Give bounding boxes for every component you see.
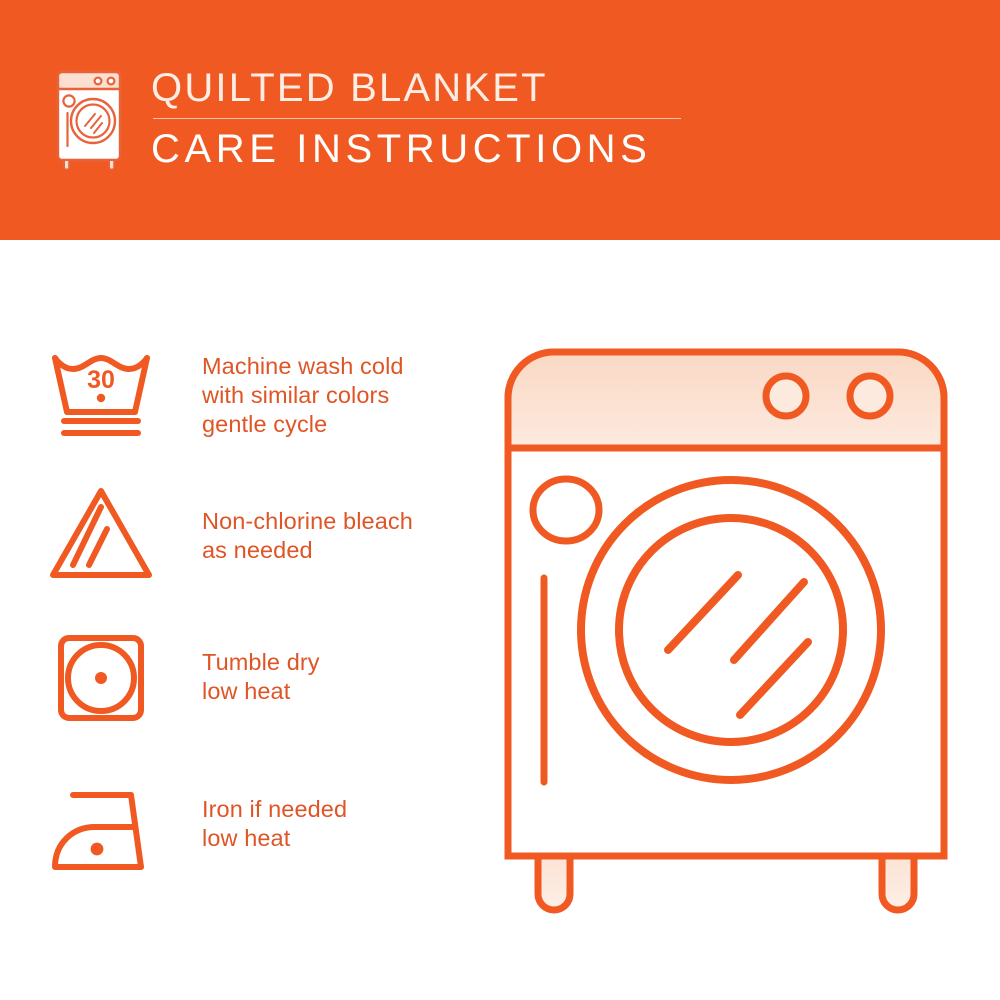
care-instruction-list: 30 Machine wash cold with similar colors… bbox=[45, 330, 475, 910]
non-chlorine-bleach-triangle-icon bbox=[45, 475, 170, 583]
header-content: QUILTED BLANKET CARE INSTRUCTIONS bbox=[45, 62, 681, 174]
washer-leg-left bbox=[538, 856, 570, 910]
care-text-iron: Iron if needed low heat bbox=[170, 765, 347, 853]
care-line: Tumble dry bbox=[202, 648, 320, 677]
care-row-tumble-dry: Tumble dry low heat bbox=[45, 620, 475, 765]
detergent-dial[interactable] bbox=[533, 479, 599, 541]
care-line: Machine wash cold bbox=[202, 352, 404, 381]
care-row-bleach: Non-chlorine bleach as needed bbox=[45, 475, 475, 620]
care-text-bleach: Non-chlorine bleach as needed bbox=[170, 475, 413, 565]
care-line: Iron if needed bbox=[202, 795, 347, 824]
care-line: low heat bbox=[202, 824, 347, 853]
control-knob-1[interactable] bbox=[766, 376, 806, 416]
care-line: gentle cycle bbox=[202, 410, 404, 439]
care-row-iron: Iron if needed low heat bbox=[45, 765, 475, 910]
wash-tub-30-gentle-icon: 30 bbox=[45, 330, 170, 444]
tumble-dry-low-heat-icon bbox=[45, 620, 170, 728]
page-title: QUILTED BLANKET bbox=[151, 66, 681, 110]
care-line: as needed bbox=[202, 536, 413, 565]
title-divider bbox=[153, 118, 681, 119]
washing-machine-icon bbox=[45, 62, 137, 174]
care-line: low heat bbox=[202, 677, 320, 706]
header-title-group: QUILTED BLANKET CARE INSTRUCTIONS bbox=[151, 62, 681, 171]
iron-low-heat-icon bbox=[45, 765, 170, 883]
page-subtitle: CARE INSTRUCTIONS bbox=[151, 127, 681, 171]
care-text-tumble-dry: Tumble dry low heat bbox=[170, 620, 320, 706]
care-text-machine-wash: Machine wash cold with similar colors ge… bbox=[170, 330, 404, 439]
care-row-machine-wash: 30 Machine wash cold with similar colors… bbox=[45, 330, 475, 475]
care-line: with similar colors bbox=[202, 381, 404, 410]
control-knob-2[interactable] bbox=[850, 376, 890, 416]
washer-door-inner bbox=[619, 518, 843, 742]
care-line: Non-chlorine bleach bbox=[202, 507, 413, 536]
header-banner: QUILTED BLANKET CARE INSTRUCTIONS bbox=[0, 0, 1000, 240]
front-load-washing-machine-illustration bbox=[486, 330, 966, 930]
wash-temperature-label: 30 bbox=[87, 366, 115, 394]
washer-leg-right bbox=[882, 856, 914, 910]
